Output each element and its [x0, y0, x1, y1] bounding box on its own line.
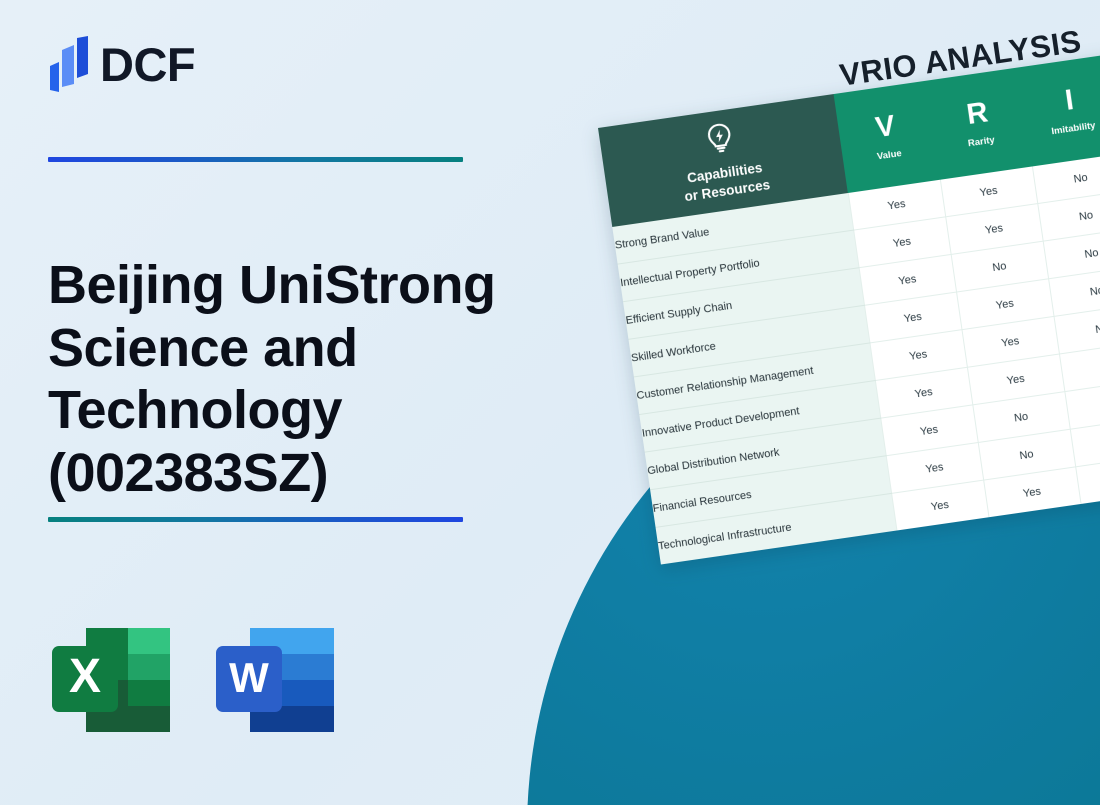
divider-top	[48, 157, 463, 162]
vrio-table-wrapper: Capabilities or Resources V Value R Rari…	[598, 41, 1100, 564]
brand-name: DCF	[100, 41, 195, 88]
header-letter-v: V	[837, 107, 933, 149]
header-name-rarity: Rarity	[935, 131, 1028, 154]
header-name-value: Value	[843, 144, 936, 167]
header-column-rarity: R Rarity	[926, 68, 1032, 180]
vrio-table-zone: VRIO ANALYSIS	[560, 0, 1100, 805]
download-icons: X W	[48, 620, 344, 740]
dcf-bars-logo-icon	[48, 36, 90, 92]
svg-text:W: W	[229, 654, 269, 701]
header-letter-r: R	[929, 94, 1025, 136]
svg-text:X: X	[69, 650, 101, 703]
vrio-table: Capabilities or Resources V Value R Rari…	[598, 41, 1100, 564]
divider-bottom	[48, 517, 463, 522]
header-letter-i: I	[1021, 80, 1100, 122]
header-column-imitability: I Imitability	[1018, 54, 1100, 166]
lightbulb-icon	[600, 105, 841, 175]
header-column-value: V Value	[834, 81, 940, 193]
cover-page: DCF Beijing UniStrong Science and Techno…	[0, 0, 1100, 805]
left-panel: DCF Beijing UniStrong Science and Techno…	[0, 0, 530, 805]
header-name-imitability: Imitability	[1027, 118, 1100, 141]
excel-file-icon[interactable]: X	[48, 620, 180, 740]
page-title: Beijing UniStrong Science and Technology…	[48, 254, 518, 505]
word-file-icon[interactable]: W	[212, 620, 344, 740]
brand-logo[interactable]: DCF	[48, 36, 195, 92]
